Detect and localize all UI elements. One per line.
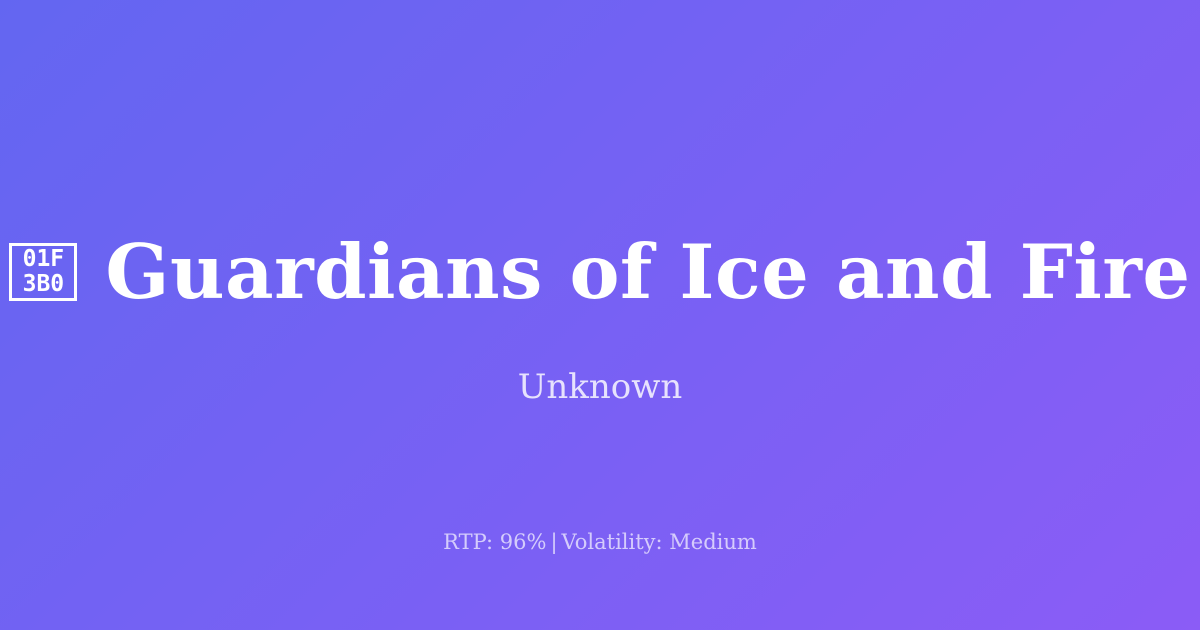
tofu-codepoint-bottom: 3B0 [23, 272, 65, 297]
page-title: Guardians of Ice and Fire [105, 231, 1190, 313]
title-row: 01F 3B0 Guardians of Ice and Fire [0, 231, 1200, 313]
tofu-codepoint-top: 01F [23, 247, 65, 272]
og-share-card: 01F 3B0 Guardians of Ice and Fire Unknow… [0, 0, 1200, 630]
volatility-value: Volatility: Medium [562, 530, 757, 554]
provider-subtitle: Unknown [0, 365, 1200, 409]
slot-machine-tofu-glyph-icon: 01F 3B0 [9, 243, 77, 301]
game-stats-line: RTP: 96%|Volatility: Medium [0, 527, 1200, 557]
stats-separator: | [546, 530, 561, 554]
rtp-value: RTP: 96% [443, 530, 546, 554]
